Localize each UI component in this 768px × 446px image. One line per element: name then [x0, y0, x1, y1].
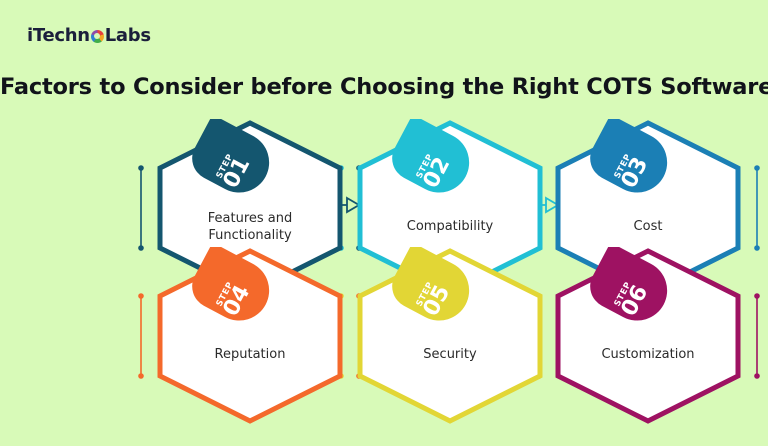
accent-bar-dot [754, 245, 760, 251]
step-title: Security [355, 346, 545, 363]
accent-bar-dot [138, 293, 144, 299]
step-title-line-1: Customization [553, 346, 743, 363]
droplet-icon [587, 247, 677, 343]
step-badge-02: STEP02 [389, 119, 463, 203]
accent-bar-dot [754, 165, 760, 171]
step-title: Compatibility [355, 218, 545, 235]
step-badge-06: STEP06 [587, 247, 661, 331]
step-title-line-1: Security [355, 346, 545, 363]
droplet-icon [389, 119, 479, 215]
multicolor-ring-icon [91, 30, 104, 43]
infographic-canvas: iTechn Labs Factors to Consider before C… [0, 0, 768, 446]
step-card-05[interactable]: STEP05Security [355, 246, 545, 426]
step-card-04[interactable]: STEP04Reputation [155, 246, 345, 426]
accent-bar-dot [138, 245, 144, 251]
step-title: Customization [553, 346, 743, 363]
droplet-icon [389, 247, 479, 343]
step-title-line-1: Reputation [155, 346, 345, 363]
step-title: Reputation [155, 346, 345, 363]
droplet-icon [189, 119, 279, 215]
droplet-icon [587, 119, 677, 215]
step-title: Cost [553, 218, 743, 235]
page-title: Factors to Consider before Choosing the … [0, 74, 768, 100]
step-card-06[interactable]: STEP06Customization [553, 246, 743, 426]
brand-name-part2: Labs [105, 27, 151, 45]
accent-bar-dot [138, 373, 144, 379]
step-title-line-1: Cost [553, 218, 743, 235]
step-title-line-1: Compatibility [355, 218, 545, 235]
step-title-line-1: Features and [155, 210, 345, 227]
accent-bar-dot [138, 165, 144, 171]
droplet-icon [189, 247, 279, 343]
step-badge-01: STEP01 [189, 119, 263, 203]
step-title: Features andFunctionality [155, 210, 345, 244]
accent-bar-dot [754, 293, 760, 299]
step-title-line-2: Functionality [155, 227, 345, 244]
step-badge-04: STEP04 [189, 247, 263, 331]
brand-logo: iTechn Labs [27, 27, 151, 45]
step-badge-03: STEP03 [587, 119, 661, 203]
accent-bar-dot [754, 373, 760, 379]
step-badge-05: STEP05 [389, 247, 463, 331]
brand-name-part1: iTechn [27, 27, 90, 45]
